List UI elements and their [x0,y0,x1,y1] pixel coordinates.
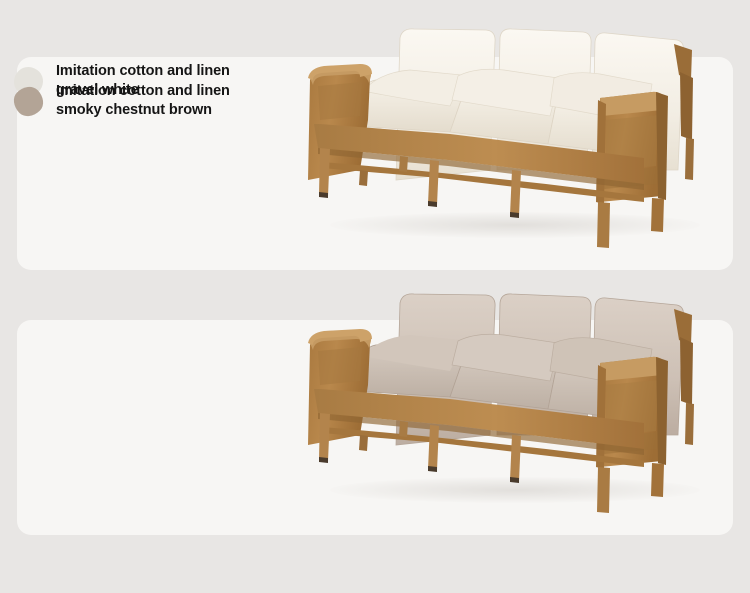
product-image-smoky-chestnut-brown [300,285,720,515]
fabric-swatch-icon[interactable] [14,87,43,116]
variant-label-text: Imitation cotton and linen smoky chestnu… [56,82,241,121]
variant-label-smoky-chestnut-brown[interactable]: Imitation cotton and linen smoky chestnu… [14,82,241,121]
product-image-gravel-white [300,20,720,250]
product-variant-page: Imitation cotton and linen gravel white [0,0,750,593]
